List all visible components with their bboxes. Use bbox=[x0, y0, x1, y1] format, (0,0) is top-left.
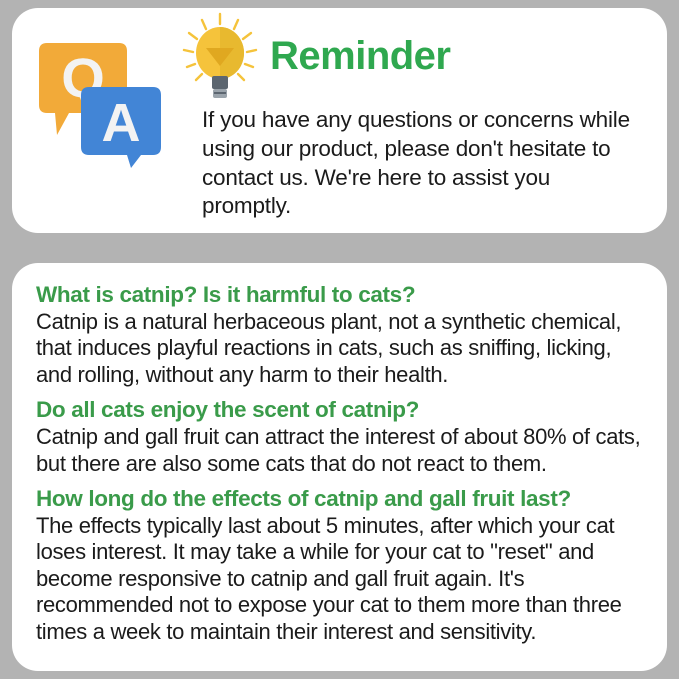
reminder-card-content: Q A bbox=[12, 8, 667, 233]
svg-text:A: A bbox=[102, 93, 141, 153]
faq-item: How long do the effects of catnip and ga… bbox=[36, 485, 649, 645]
faq-answer: The effects typically last about 5 minut… bbox=[36, 513, 649, 645]
faq-card: What is catnip? Is it harmful to cats? C… bbox=[12, 263, 667, 671]
faq-answer: Catnip is a natural herbaceous plant, no… bbox=[36, 309, 649, 388]
faq-question: Do all cats enjoy the scent of catnip? bbox=[36, 396, 649, 423]
reminder-body-text: If you have any questions or concerns wh… bbox=[202, 106, 632, 221]
faq-question: How long do the effects of catnip and ga… bbox=[36, 485, 649, 512]
reminder-card: Q A bbox=[12, 8, 667, 233]
faq-question: What is catnip? Is it harmful to cats? bbox=[36, 281, 649, 308]
question-answer-icon: Q A bbox=[35, 43, 165, 168]
faq-item: Do all cats enjoy the scent of catnip? C… bbox=[36, 396, 649, 477]
faq-item: What is catnip? Is it harmful to cats? C… bbox=[36, 281, 649, 388]
lightbulb-icon bbox=[175, 8, 265, 103]
faq-answer: Catnip and gall fruit can attract the in… bbox=[36, 424, 649, 477]
reminder-title: Reminder bbox=[270, 36, 451, 76]
